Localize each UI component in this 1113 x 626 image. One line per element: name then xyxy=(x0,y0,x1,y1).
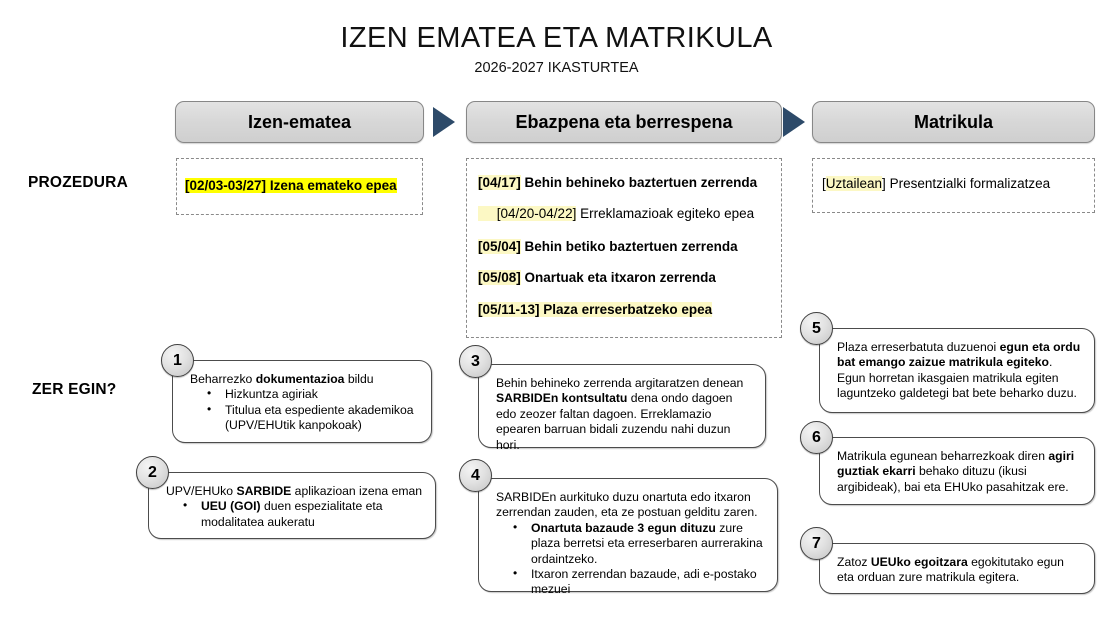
step-bullet-bold: UEU (GOI) xyxy=(201,499,261,513)
step-text: SARBIDEn aurkituko duzu onartuta edo itx… xyxy=(496,490,767,598)
procedure-line: [04/17] Behin behineko baztertuen zerren… xyxy=(478,174,757,191)
procedure-indent-highlight xyxy=(478,206,497,221)
row-label-zer-egin: ZER EGIN? xyxy=(32,381,116,399)
procedure-date: [02/03-03/27] xyxy=(185,178,266,193)
step-lead-plain: Beharrezko xyxy=(190,372,256,386)
step-number-badge: 5 xyxy=(800,312,833,345)
procedure-text: Erreklamazioak egiteko epea xyxy=(576,206,754,221)
procedure-text: Behin betiko baztertuen zerrenda xyxy=(521,239,738,254)
procedure-line: [05/04] Behin betiko baztertuen zerrenda xyxy=(478,238,738,255)
step-number-badge: 7 xyxy=(800,527,833,560)
step-bullet-plain: Itxaron zerrendan bazaude, adi e-postako… xyxy=(531,567,757,596)
phase-label: Izen-ematea xyxy=(248,112,351,133)
step-text: Behin behineko zerrenda argitaratzen den… xyxy=(496,376,755,453)
step-number-badge: 6 xyxy=(800,421,833,454)
phase-label: Ebazpena eta berrespena xyxy=(515,112,732,133)
step-body-plain: Matrikula egunean beharrezkoak diren xyxy=(837,449,1048,463)
procedure-text: Onartuak eta itxaron zerrenda xyxy=(521,270,716,285)
phase-label: Matrikula xyxy=(914,112,993,133)
procedure-date: [04/17] xyxy=(478,175,521,190)
step-body-bold: UEUko egoitzara xyxy=(871,555,968,569)
step-card-body: SARBIDEn aurkituko duzu onartuta edo itx… xyxy=(478,478,778,592)
step-bullet-list: Hizkuntza agiriak Titulua eta espediente… xyxy=(190,387,421,433)
procedure-date: [05/11-13] xyxy=(478,302,540,317)
step-text: Zatoz UEUko egoitzara egokitutako egun e… xyxy=(837,555,1084,586)
step-text: Matrikula egunean beharrezkoak diren agi… xyxy=(837,449,1084,495)
step-lead-bold: SARBIDE xyxy=(236,484,291,498)
step-body-plain: Plaza erreserbatuta duzuenoi xyxy=(837,340,1000,354)
procedure-line: [05/08] Onartuak eta itxaron zerrenda xyxy=(478,269,716,286)
arrow-right-icon-2 xyxy=(783,107,805,137)
step-card-body: Behin behineko zerrenda argitaratzen den… xyxy=(478,364,766,448)
step-number-badge: 1 xyxy=(161,344,194,377)
procedure-text: Plaza erreserbatzeko epea xyxy=(540,302,713,317)
step-body-plain: Behin behineko zerrenda argitaratzen den… xyxy=(496,376,743,390)
step-bullet-list: UEU (GOI) duen espezialitate eta modalit… xyxy=(166,499,425,530)
procedure-date: [05/04] xyxy=(478,239,521,254)
procedure-text: Izena emateko epea xyxy=(266,178,397,193)
step-card-body: Plaza erreserbatuta duzuenoi egun eta or… xyxy=(819,328,1095,413)
step-text: Beharrezko dokumentazioa bildu Hizkuntza… xyxy=(190,372,421,434)
step-bullet: Onartuta bazaude 3 egun dituzu zure plaz… xyxy=(513,521,767,567)
flowchart-page: IZEN EMATEA ETA MATRIKULA 2026-2027 IKAS… xyxy=(0,0,1113,626)
procedure-text: Behin behineko baztertuen zerrenda xyxy=(521,175,757,190)
phase-box-izen-ematea[interactable]: Izen-ematea xyxy=(175,101,424,143)
step-bullet-list: Onartuta bazaude 3 egun dituzu zure plaz… xyxy=(496,521,767,598)
step-card-body: Matrikula egunean beharrezkoak diren agi… xyxy=(819,437,1095,505)
procedure-line: [05/11-13] Plaza erreserbatzeko epea xyxy=(478,301,712,318)
procedure-line: [04/20-04/22] Erreklamazioak egiteko epe… xyxy=(478,205,754,222)
procedure-date: [05/08] xyxy=(478,270,521,285)
procedure-text: Presentzialki formalizatzea xyxy=(886,176,1050,191)
step-bullet: Hizkuntza agiriak xyxy=(207,387,421,402)
procedure-date: [04/20-04/22] xyxy=(497,206,577,221)
row-label-prozedura: PROZEDURA xyxy=(28,174,128,192)
step-bullet: Titulua eta espediente akademikoa (UPV/E… xyxy=(207,403,421,434)
procedure-line: [02/03-03/27] Izena emateko epea xyxy=(185,177,397,194)
step-lead: SARBIDEn aurkituko duzu onartuta edo itx… xyxy=(496,490,758,519)
step-number-badge: 3 xyxy=(459,345,492,378)
procedure-box-izen-ematea: [02/03-03/27] Izena emateko epea xyxy=(176,158,423,215)
step-lead-plain: UPV/EHUko xyxy=(166,484,236,498)
procedure-box-ebazpena: [04/17] Behin behineko baztertuen zerren… xyxy=(466,158,782,338)
step-number-badge: 2 xyxy=(136,456,169,489)
step-bullet: Itxaron zerrendan bazaude, adi e-postako… xyxy=(513,567,767,598)
arrow-right-icon-1 xyxy=(433,107,455,137)
procedure-date: Uztailean xyxy=(826,176,882,191)
step-text: UPV/EHUko SARBIDE aplikazioan izena eman… xyxy=(166,484,425,530)
step-bullet: UEU (GOI) duen espezialitate eta modalit… xyxy=(183,499,425,530)
step-body-plain: Zatoz xyxy=(837,555,871,569)
step-body-bold: SARBIDEn kontsultatu xyxy=(496,391,627,405)
page-subtitle: 2026-2027 IKASTURTEA xyxy=(0,60,1113,76)
step-text: Plaza erreserbatuta duzuenoi egun eta or… xyxy=(837,340,1084,402)
procedure-box-matrikula: [Uztailean] Presentzialki formalizatzea xyxy=(812,158,1095,213)
step-lead-plain-2: bildu xyxy=(344,372,373,386)
step-card-body: Beharrezko dokumentazioa bildu Hizkuntza… xyxy=(172,360,432,443)
procedure-line: [Uztailean] Presentzialki formalizatzea xyxy=(822,175,1050,192)
step-lead-plain-2: aplikazioan izena eman xyxy=(291,484,422,498)
phase-box-ebazpena[interactable]: Ebazpena eta berrespena xyxy=(466,101,782,143)
step-card-body: UPV/EHUko SARBIDE aplikazioan izena eman… xyxy=(148,472,436,539)
step-bullet-bold: Onartuta bazaude 3 egun dituzu xyxy=(531,521,716,535)
step-card-body: Zatoz UEUko egoitzara egokitutako egun e… xyxy=(819,543,1095,594)
step-lead-bold: dokumentazioa xyxy=(256,372,345,386)
page-title: IZEN EMATEA ETA MATRIKULA xyxy=(0,22,1113,55)
phase-box-matrikula[interactable]: Matrikula xyxy=(812,101,1095,143)
step-number-badge: 4 xyxy=(459,459,492,492)
